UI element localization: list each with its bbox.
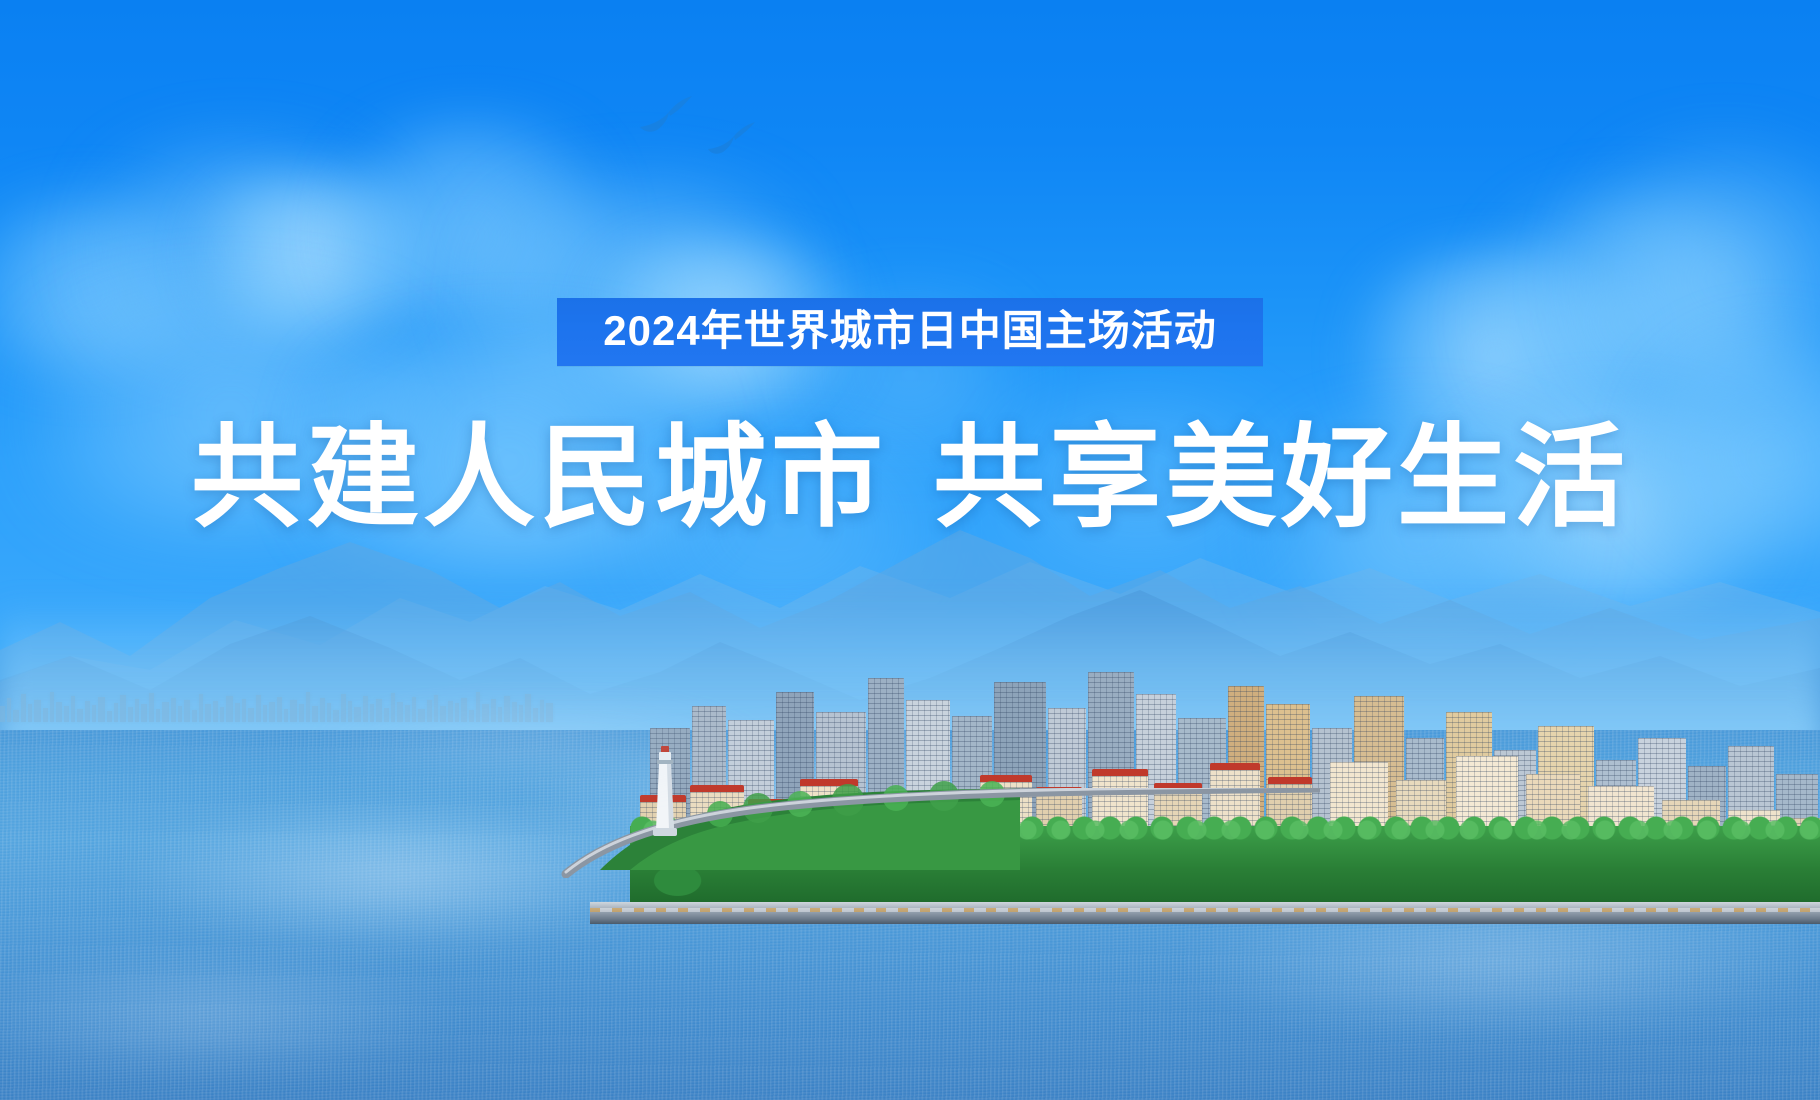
poster-root: 2024年世界城市日中国主场活动 共建人民城市共享美好生活 蓝色天空、白云、海鸥… — [0, 0, 1820, 1100]
lighthouse-icon — [648, 742, 682, 838]
subtitle-text: 2024年世界城市日中国主场活动 — [603, 310, 1216, 352]
poster-text-block: 2024年世界城市日中国主场活动 共建人民城市共享美好生活 — [0, 0, 1820, 534]
headline-part-1: 共建人民城市 — [191, 415, 887, 540]
red-roof — [1210, 763, 1260, 770]
red-roof — [1092, 769, 1148, 776]
distant-city-skyline — [0, 666, 555, 722]
red-roof — [1268, 777, 1312, 784]
subtitle-banner: 2024年世界城市日中国主场活动 — [557, 298, 1262, 366]
waterfront-promenade — [590, 902, 1820, 924]
headline-part-2: 共享美好生活 — [933, 415, 1629, 540]
page-title: 共建人民城市共享美好生活 — [0, 422, 1820, 534]
